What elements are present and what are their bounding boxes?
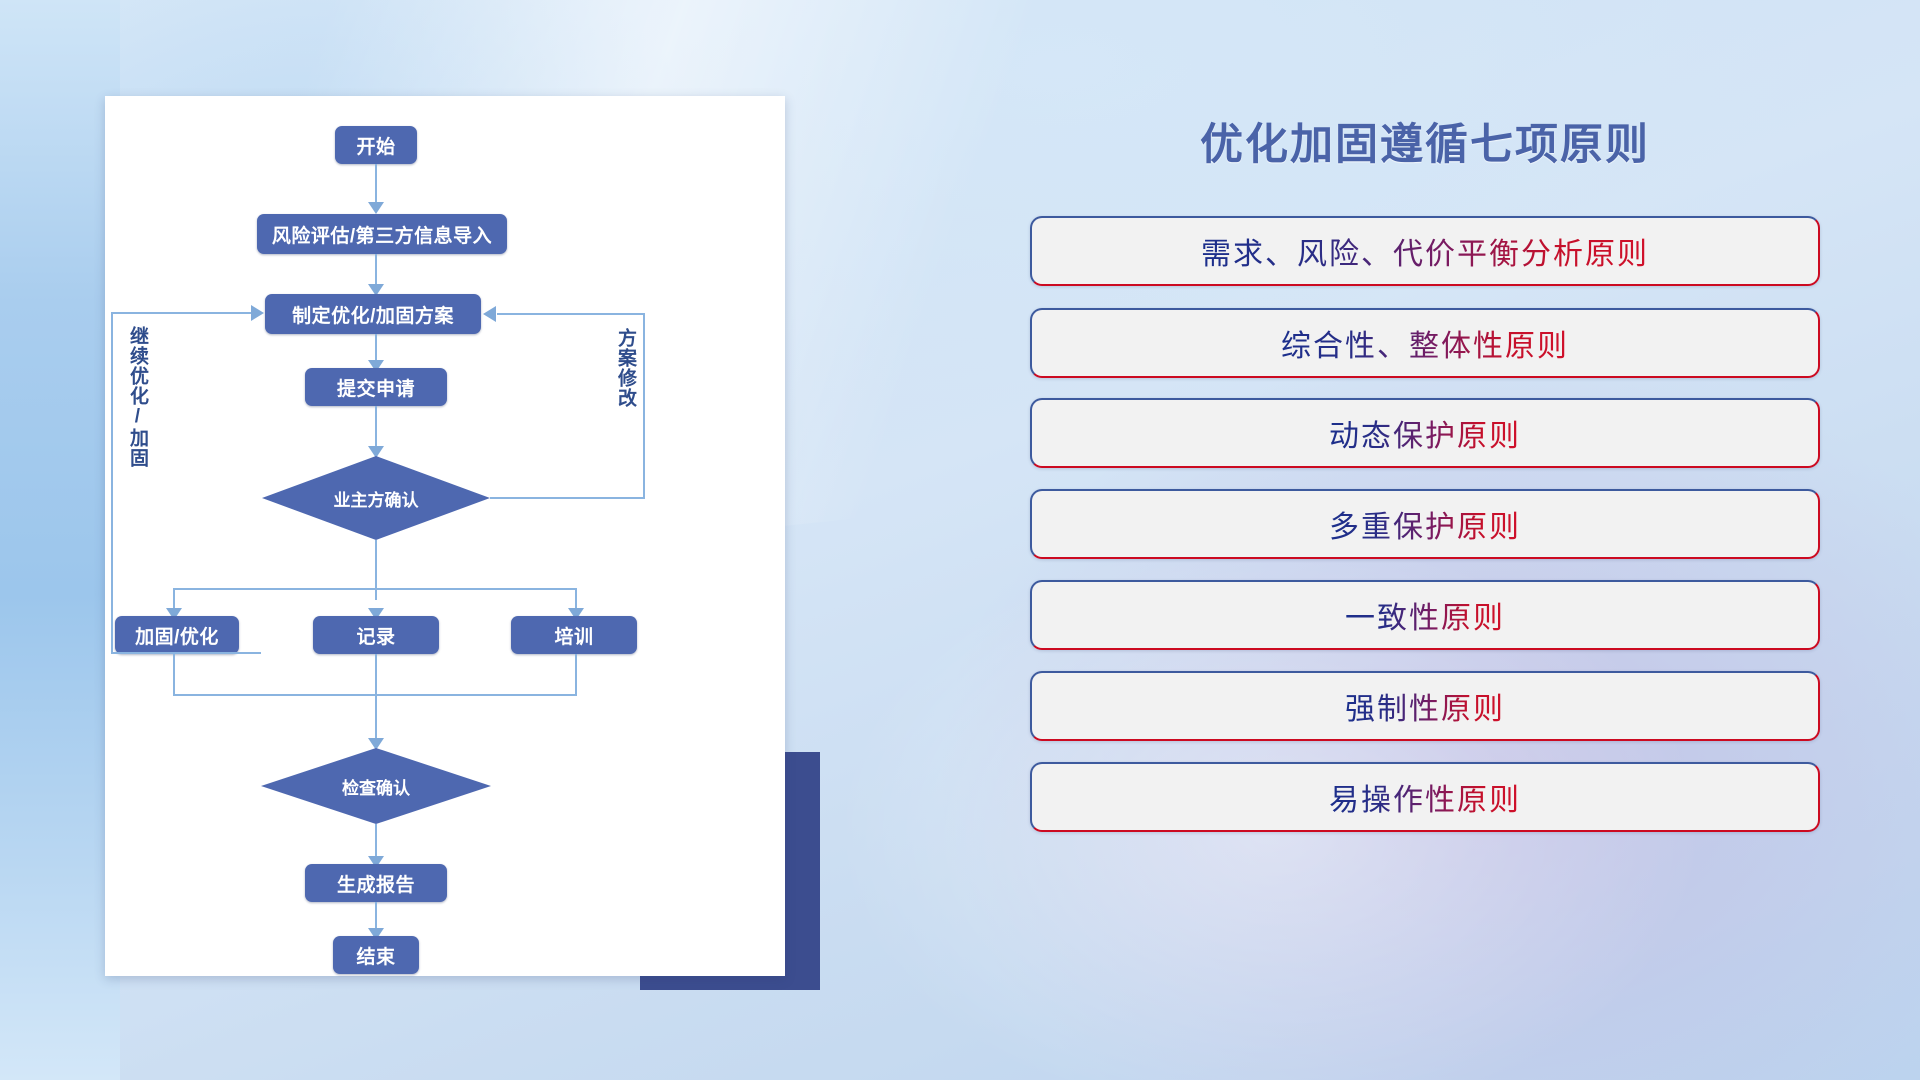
- principle-label-1: 需求、风险、代价平衡分析原则: [1201, 229, 1649, 273]
- principles-panel: 优化加固遵循七项原则 需求、风险、代价平衡分析原则 综合性、整体性原则 动态保护…: [1010, 96, 1840, 996]
- principles-title: 优化加固遵循七项原则: [1010, 110, 1840, 172]
- slide-canvas: 开始 风险评估/第三方信息导入 制定优化/加固方案 提交申请 业主方确认: [0, 0, 1920, 1080]
- connector-left-loop-top: [111, 312, 251, 314]
- connector-reinforce-down: [173, 654, 175, 696]
- flow-node-submit-application-label: 提交申请: [337, 374, 415, 401]
- principle-card-6[interactable]: 强制性原则: [1030, 671, 1820, 741]
- principle-card-4[interactable]: 多重保护原则: [1030, 489, 1820, 559]
- principle-label-5: 一致性原则: [1345, 593, 1505, 637]
- principle-label-7: 易操作性原则: [1329, 775, 1521, 819]
- principle-card-2[interactable]: 综合性、整体性原则: [1030, 308, 1820, 378]
- flow-node-record[interactable]: 记录: [313, 616, 439, 654]
- flow-node-make-plan[interactable]: 制定优化/加固方案: [265, 294, 481, 334]
- principle-label-4: 多重保护原则: [1329, 502, 1521, 546]
- flow-node-training-label: 培训: [554, 622, 593, 649]
- flow-node-start-label: 开始: [356, 132, 395, 159]
- connector-check-left-out: [111, 652, 261, 654]
- flow-node-end-label: 结束: [356, 942, 395, 969]
- connector-owner-right-out: [490, 497, 645, 499]
- principle-label-3: 动态保护原则: [1329, 411, 1521, 455]
- flow-node-generate-report-label: 生成报告: [337, 870, 415, 897]
- connector-right-loop-vertical: [643, 314, 645, 499]
- connector-right-loop-top: [497, 313, 645, 315]
- principle-card-1[interactable]: 需求、风险、代价平衡分析原则: [1030, 216, 1820, 286]
- connector-record-down: [375, 654, 377, 750]
- flow-node-generate-report[interactable]: 生成报告: [305, 864, 447, 902]
- principle-card-7[interactable]: 易操作性原则: [1030, 762, 1820, 832]
- connector-left-loop-vertical: [111, 312, 113, 654]
- flow-node-submit-application[interactable]: 提交申请: [305, 368, 447, 406]
- arrow-start-to-risk: [368, 202, 384, 214]
- flow-node-owner-confirm-label: 业主方确认: [334, 486, 419, 511]
- flow-node-make-plan-label: 制定优化/加固方案: [292, 301, 454, 328]
- flow-node-record-label: 记录: [356, 622, 395, 649]
- flow-node-start[interactable]: 开始: [335, 126, 417, 164]
- flow-node-reinforce-optimize[interactable]: 加固/优化: [115, 616, 239, 654]
- principle-card-3[interactable]: 动态保护原则: [1030, 398, 1820, 468]
- connector-owner-down: [375, 540, 377, 600]
- background-left-band: [0, 0, 120, 1080]
- connector-fanout-bar: [173, 588, 577, 590]
- connector-training-down: [575, 654, 577, 696]
- flowchart-panel: 开始 风险评估/第三方信息导入 制定优化/加固方案 提交申请 业主方确认: [105, 96, 785, 976]
- flow-node-training[interactable]: 培训: [511, 616, 637, 654]
- flow-node-end[interactable]: 结束: [333, 936, 419, 974]
- principle-label-2: 综合性、整体性原则: [1281, 321, 1569, 365]
- principle-label-6: 强制性原则: [1345, 684, 1505, 728]
- flow-node-check-label: 检查确认: [342, 774, 410, 799]
- flow-node-reinforce-optimize-label: 加固/优化: [135, 622, 219, 649]
- edge-label-continue-optimize: 继续优化/加固: [127, 326, 147, 468]
- edge-label-plan-revision: 方案修改: [615, 328, 635, 408]
- flow-node-risk-assessment[interactable]: 风险评估/第三方信息导入: [257, 214, 507, 254]
- flow-node-owner-confirm[interactable]: 业主方确认: [262, 456, 490, 540]
- flow-node-check[interactable]: 检查确认: [261, 748, 491, 824]
- flow-node-risk-assessment-label: 风险评估/第三方信息导入: [272, 221, 492, 248]
- arrow-left-loop-to-plan: [251, 305, 264, 321]
- principle-card-5[interactable]: 一致性原则: [1030, 580, 1820, 650]
- arrow-right-loop-to-plan: [483, 306, 496, 322]
